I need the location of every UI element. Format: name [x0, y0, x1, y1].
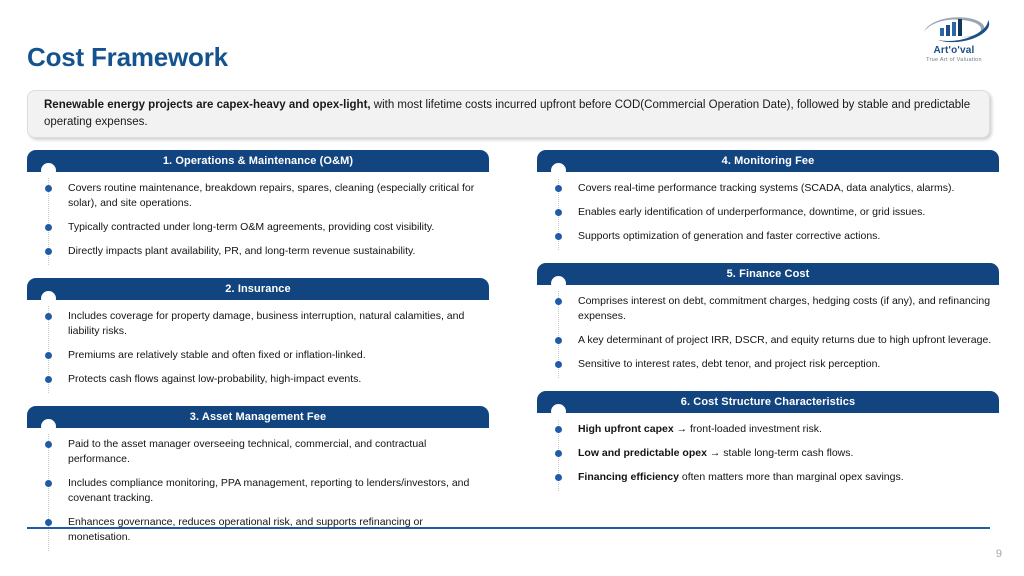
list-item-text: Protects cash flows against low-probabil…	[68, 372, 483, 387]
bullet-dot-icon	[45, 376, 52, 383]
bar-chart-swoosh-logo-icon	[902, 14, 1006, 44]
list-item-rest: stable long-term cash flows.	[720, 447, 853, 459]
card-asset-management-fee: 3. Asset Management Fee Paid to the asse…	[27, 406, 489, 551]
list-item: Covers routine maintenance, breakdown re…	[27, 181, 489, 211]
list-item: Enhances governance, reduces operational…	[27, 515, 489, 545]
card-monitoring-fee: 4. Monitoring Fee Covers real-time perfo…	[537, 150, 999, 250]
list-item: Sensitive to interest rates, debt tenor,…	[537, 357, 999, 372]
list-item: Paid to the asset manager overseeing tec…	[27, 437, 489, 467]
page-title: Cost Framework	[27, 40, 228, 74]
card-header-monitoring-fee: 4. Monitoring Fee	[537, 150, 999, 172]
logo-tagline: True Art of Valuation	[902, 56, 1006, 64]
summary-banner: Renewable energy projects are capex-heav…	[27, 90, 990, 138]
bullet-dot-icon	[555, 361, 562, 368]
card-gap	[537, 378, 999, 391]
card-header-operations-maintenance: 1. Operations & Maintenance (O&M)	[27, 150, 489, 172]
bullet-dot-icon	[45, 519, 52, 526]
list-item-text: Typically contracted under long-term O&M…	[68, 220, 483, 235]
header-notch-circle-icon	[41, 163, 56, 178]
list-item-lead: Low and predictable opex →	[578, 447, 720, 459]
list-item: Financing efficiency often matters more …	[537, 470, 999, 485]
list-item: Includes compliance monitoring, PPA mana…	[27, 476, 489, 506]
list-item: Covers real-time performance tracking sy…	[537, 181, 999, 196]
card-header-finance-cost: 5. Finance Cost	[537, 263, 999, 285]
list-item-text: Enhances governance, reduces operational…	[68, 515, 483, 545]
list-item: Premiums are relatively stable and often…	[27, 348, 489, 363]
header-notch-circle-icon	[41, 291, 56, 306]
header-notch-circle-icon	[551, 163, 566, 178]
card-header-asset-management-fee: 3. Asset Management Fee	[27, 406, 489, 428]
list-item-text: Low and predictable opex → stable long-t…	[578, 446, 993, 461]
card-body-operations-maintenance: Covers routine maintenance, breakdown re…	[27, 172, 489, 265]
list-item: Protects cash flows against low-probabil…	[27, 372, 489, 387]
header-notch-circle-icon	[551, 276, 566, 291]
card-finance-cost: 5. Finance Cost Comprises interest on de…	[537, 263, 999, 378]
list-item: Enables early identification of underper…	[537, 205, 999, 220]
card-gap	[537, 250, 999, 263]
list-item-text: Paid to the asset manager overseeing tec…	[68, 437, 483, 467]
card-cost-structure-characteristics: 6. Cost Structure Characteristics High u…	[537, 391, 999, 491]
bullet-dot-icon	[555, 426, 562, 433]
list-item-text: Covers real-time performance tracking sy…	[578, 181, 993, 196]
list-item: Comprises interest on debt, commitment c…	[537, 294, 999, 324]
card-body-monitoring-fee: Covers real-time performance tracking sy…	[537, 172, 999, 250]
bullet-dot-icon	[45, 313, 52, 320]
bullet-dot-icon	[555, 298, 562, 305]
card-body-insurance: Includes coverage for property damage, b…	[27, 300, 489, 393]
bullet-dot-icon	[45, 185, 52, 192]
bullet-dot-icon	[555, 185, 562, 192]
list-item: Low and predictable opex → stable long-t…	[537, 446, 999, 461]
list-item-text: Financing efficiency often matters more …	[578, 470, 993, 485]
bullet-dot-icon	[555, 337, 562, 344]
footer-divider	[27, 527, 990, 529]
list-item-text: Covers routine maintenance, breakdown re…	[68, 181, 483, 211]
list-item: High upfront capex → front-loaded invest…	[537, 422, 999, 437]
list-item: Supports optimization of generation and …	[537, 229, 999, 244]
list-item-text: Includes coverage for property damage, b…	[68, 309, 483, 339]
summary-banner-text: Renewable energy projects are capex-heav…	[28, 97, 989, 131]
card-gap	[27, 393, 489, 406]
list-item-text: Sensitive to interest rates, debt tenor,…	[578, 357, 993, 372]
card-body-finance-cost: Comprises interest on debt, commitment c…	[537, 285, 999, 378]
summary-banner-lead: Renewable energy projects are capex-heav…	[44, 99, 371, 111]
bullet-dot-icon	[555, 233, 562, 240]
list-item: Includes coverage for property damage, b…	[27, 309, 489, 339]
card-body-asset-management-fee: Paid to the asset manager overseeing tec…	[27, 428, 489, 551]
card-body-cost-structure-characteristics: High upfront capex → front-loaded invest…	[537, 413, 999, 491]
list-item-text: High upfront capex → front-loaded invest…	[578, 422, 993, 437]
list-item-text: Enables early identification of underper…	[578, 205, 993, 220]
company-logo: Art'o'val True Art of Valuation	[902, 14, 1006, 70]
list-item: A key determinant of project IRR, DSCR, …	[537, 333, 999, 348]
logo-wordmark: Art'o'val	[902, 45, 1006, 56]
bullet-dot-icon	[555, 474, 562, 481]
bullet-dot-icon	[45, 441, 52, 448]
header-notch-circle-icon	[41, 419, 56, 434]
list-item-rest: often matters more than marginal opex sa…	[679, 471, 904, 483]
header-notch-circle-icon	[551, 404, 566, 419]
bullet-dot-icon	[45, 480, 52, 487]
page-number: 9	[996, 548, 1002, 560]
bullet-dot-icon	[555, 450, 562, 457]
bullet-dot-icon	[45, 224, 52, 231]
card-insurance: 2. Insurance Includes coverage for prope…	[27, 278, 489, 393]
list-item-text: Includes compliance monitoring, PPA mana…	[68, 476, 483, 506]
list-item-text: Comprises interest on debt, commitment c…	[578, 294, 993, 324]
list-item-text: Directly impacts plant availability, PR,…	[68, 244, 483, 259]
list-item-text: A key determinant of project IRR, DSCR, …	[578, 333, 993, 348]
list-item: Directly impacts plant availability, PR,…	[27, 244, 489, 259]
bullet-dot-icon	[45, 352, 52, 359]
right-column: 4. Monitoring Fee Covers real-time perfo…	[537, 150, 999, 491]
list-item-lead: Financing efficiency	[578, 471, 679, 483]
list-item: Typically contracted under long-term O&M…	[27, 220, 489, 235]
bullet-dot-icon	[555, 209, 562, 216]
card-header-cost-structure-characteristics: 6. Cost Structure Characteristics	[537, 391, 999, 413]
card-header-insurance: 2. Insurance	[27, 278, 489, 300]
list-item-text: Premiums are relatively stable and often…	[68, 348, 483, 363]
left-column: 1. Operations & Maintenance (O&M) Covers…	[27, 150, 489, 551]
bullet-dot-icon	[45, 248, 52, 255]
list-item-lead: High upfront capex →	[578, 423, 687, 435]
card-gap	[27, 265, 489, 278]
list-item-rest: front-loaded investment risk.	[687, 423, 822, 435]
list-item-text: Supports optimization of generation and …	[578, 229, 993, 244]
card-operations-maintenance: 1. Operations & Maintenance (O&M) Covers…	[27, 150, 489, 265]
